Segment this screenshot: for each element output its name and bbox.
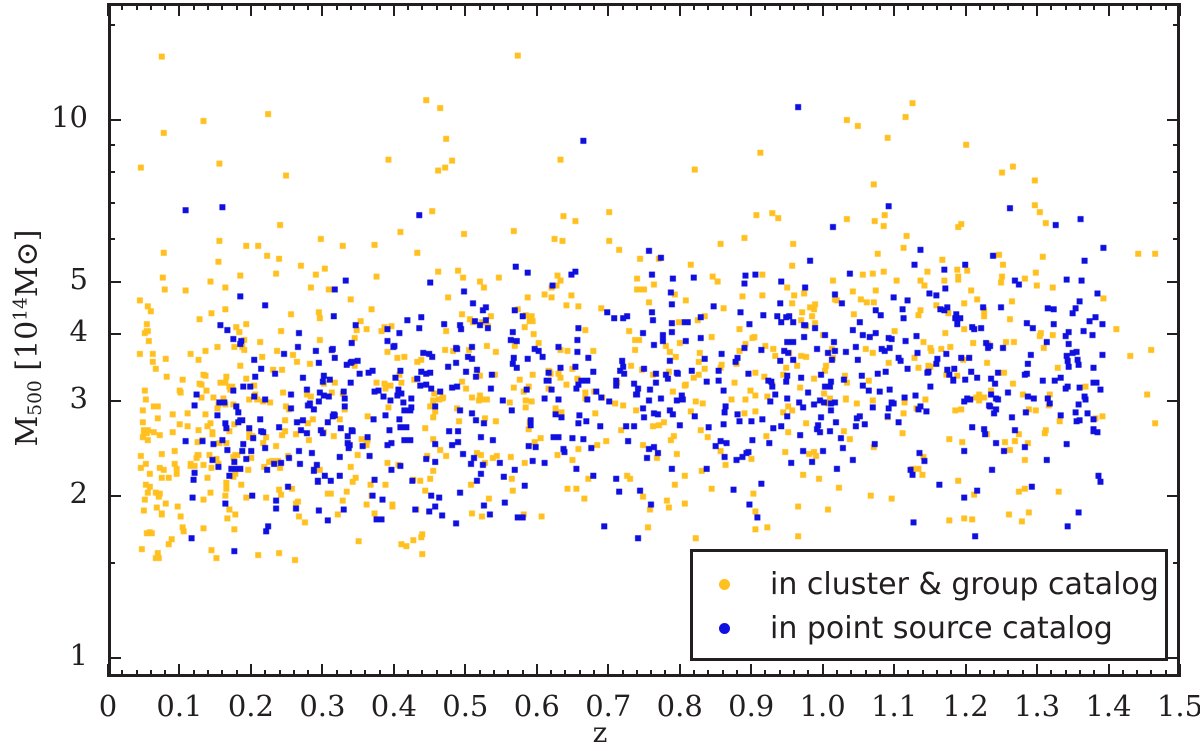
x-tick-minor-top <box>693 3 695 10</box>
x-tick-major-top <box>965 3 967 16</box>
y-axis-title-base: M <box>10 416 45 447</box>
x-tick-minor <box>1007 670 1009 677</box>
y-tick-minor <box>108 202 115 204</box>
y-tick-minor-right <box>1173 238 1180 240</box>
x-tick-minor-top <box>807 3 809 10</box>
y-tick-minor <box>108 238 115 240</box>
x-tick-minor-top <box>450 3 452 10</box>
x-tick-minor <box>236 670 238 677</box>
x-tick-minor <box>436 670 438 677</box>
x-tick-minor-top <box>193 3 195 10</box>
x-tick-minor <box>350 670 352 677</box>
x-tick-minor <box>636 670 638 677</box>
x-tick-minor-top <box>1136 3 1138 10</box>
x-tick-major <box>965 664 967 677</box>
x-tick-minor-top <box>664 3 666 10</box>
x-tick-minor-top <box>1079 3 1081 10</box>
x-tick-minor-top <box>1007 3 1009 10</box>
y-tick-major-right <box>1167 495 1180 497</box>
x-tick-major <box>1108 664 1110 677</box>
x-tick-minor <box>979 670 981 677</box>
x-tick-minor-top <box>379 3 381 10</box>
x-tick-minor <box>879 670 881 677</box>
x-tick-minor <box>1122 670 1124 677</box>
x-tick-minor-top <box>522 3 524 10</box>
x-tick-minor-top <box>579 3 581 10</box>
x-tick-minor-top <box>650 3 652 10</box>
x-tick-minor-top <box>764 3 766 10</box>
x-tick-minor <box>164 670 166 677</box>
x-tick-minor-top <box>793 3 795 10</box>
y-tick-major-right <box>1167 119 1180 121</box>
x-tick-minor-top <box>364 3 366 10</box>
x-tick-minor <box>1050 670 1052 677</box>
legend-swatch-blue <box>719 623 730 634</box>
x-tick-minor <box>293 670 295 677</box>
x-tick-minor <box>836 670 838 677</box>
x-tick-minor-top <box>1165 3 1167 10</box>
x-tick-major <box>321 664 323 677</box>
y-tick-minor-right <box>1173 171 1180 173</box>
x-tick-minor <box>764 670 766 677</box>
scatter-plot-figure: 00.10.20.30.40.50.60.70.80.91.01.11.21.3… <box>0 0 1200 751</box>
x-tick-major-top <box>1179 3 1181 16</box>
x-tick-minor-top <box>236 3 238 10</box>
x-tick-minor-top <box>636 3 638 10</box>
x-tick-minor <box>421 670 423 677</box>
y-axis-title-subscript: 500 <box>25 380 46 416</box>
x-tick-minor-top <box>436 3 438 10</box>
x-tick-minor <box>550 670 552 677</box>
y-tick-minor <box>108 24 115 26</box>
x-tick-major <box>250 664 252 677</box>
x-tick-minor <box>1150 670 1152 677</box>
x-tick-minor-top <box>421 3 423 10</box>
x-tick-major-top <box>679 3 681 16</box>
x-tick-minor-top <box>922 3 924 10</box>
x-tick-minor-top <box>150 3 152 10</box>
x-tick-minor <box>193 670 195 677</box>
x-tick-major <box>750 664 752 677</box>
x-tick-minor <box>793 670 795 677</box>
y-tick-major <box>108 119 121 121</box>
y-tick-major-right <box>1167 400 1180 402</box>
x-tick-minor-top <box>936 3 938 10</box>
x-axis-title: z <box>0 716 1200 749</box>
y-tick-major-right <box>1167 333 1180 335</box>
x-tick-minor <box>136 670 138 677</box>
y-tick-minor <box>108 562 115 564</box>
y-tick-major <box>108 657 121 659</box>
legend-swatch-orange <box>719 579 730 590</box>
x-tick-minor-top <box>550 3 552 10</box>
x-tick-minor <box>379 670 381 677</box>
x-tick-minor <box>707 670 709 677</box>
x-tick-minor <box>1136 670 1138 677</box>
legend-label-cluster-group: in cluster & group catalog <box>770 567 1159 602</box>
x-tick-major-top <box>536 3 538 16</box>
x-tick-minor-top <box>507 3 509 10</box>
x-tick-minor <box>364 670 366 677</box>
legend-label-point-source: in point source catalog <box>770 611 1113 646</box>
y-tick-minor <box>108 171 115 173</box>
x-tick-major-top <box>822 3 824 16</box>
x-tick-minor <box>279 670 281 677</box>
x-tick-minor <box>493 670 495 677</box>
x-tick-minor-top <box>879 3 881 10</box>
x-tick-major-top <box>464 3 466 16</box>
x-tick-major <box>607 664 609 677</box>
x-tick-major <box>1179 664 1181 677</box>
y-tick-major <box>108 281 121 283</box>
x-tick-minor-top <box>1093 3 1095 10</box>
x-tick-minor-top <box>564 3 566 10</box>
x-tick-major <box>679 664 681 677</box>
x-tick-minor <box>522 670 524 677</box>
x-tick-major <box>536 664 538 677</box>
x-tick-minor <box>622 670 624 677</box>
x-tick-minor <box>950 670 952 677</box>
x-tick-minor <box>722 670 724 677</box>
x-tick-minor <box>650 670 652 677</box>
x-tick-minor <box>1022 670 1024 677</box>
x-tick-minor-top <box>479 3 481 10</box>
x-tick-major <box>393 664 395 677</box>
x-tick-minor <box>807 670 809 677</box>
x-tick-minor <box>407 670 409 677</box>
x-tick-major <box>464 664 466 677</box>
x-tick-minor-top <box>221 3 223 10</box>
x-tick-minor-top <box>593 3 595 10</box>
x-tick-major-top <box>607 3 609 16</box>
x-tick-minor-top <box>264 3 266 10</box>
x-tick-minor <box>150 670 152 677</box>
x-tick-minor-top <box>279 3 281 10</box>
y-tick-major-right <box>1167 281 1180 283</box>
x-tick-minor <box>121 670 123 677</box>
x-tick-major <box>1036 664 1038 677</box>
x-tick-minor-top <box>722 3 724 10</box>
x-tick-minor <box>1079 670 1081 677</box>
x-tick-major <box>178 664 180 677</box>
x-tick-major-top <box>750 3 752 16</box>
x-tick-minor <box>736 670 738 677</box>
x-tick-minor <box>593 670 595 677</box>
x-tick-minor-top <box>336 3 338 10</box>
x-tick-minor-top <box>350 3 352 10</box>
x-tick-minor-top <box>907 3 909 10</box>
x-tick-major-top <box>1036 3 1038 16</box>
x-tick-major <box>893 664 895 677</box>
x-tick-minor <box>693 670 695 677</box>
x-tick-major <box>107 664 109 677</box>
x-tick-minor <box>579 670 581 677</box>
x-tick-minor-top <box>1022 3 1024 10</box>
x-tick-minor <box>907 670 909 677</box>
x-tick-minor-top <box>950 3 952 10</box>
y-tick-major <box>108 495 121 497</box>
x-tick-minor-top <box>207 3 209 10</box>
x-tick-major-top <box>250 3 252 16</box>
x-tick-minor <box>936 670 938 677</box>
x-tick-minor <box>507 670 509 677</box>
y-tick-label: 1 <box>0 638 88 672</box>
x-tick-minor-top <box>121 3 123 10</box>
legend-item-cluster-group: in cluster & group catalog <box>693 562 1165 606</box>
y-axis-title-exponent: 14 <box>11 297 32 321</box>
x-tick-major-top <box>893 3 895 16</box>
x-tick-major-top <box>178 3 180 16</box>
legend-item-point-source: in point source catalog <box>693 606 1165 650</box>
x-tick-minor-top <box>622 3 624 10</box>
y-tick-minor-right <box>1173 144 1180 146</box>
x-tick-minor-top <box>164 3 166 10</box>
x-tick-minor-top <box>1065 3 1067 10</box>
y-tick-minor-right <box>1173 24 1180 26</box>
x-tick-major-top <box>1108 3 1110 16</box>
y-tick-minor-right <box>1173 202 1180 204</box>
y-tick-major <box>108 400 121 402</box>
x-tick-minor-top <box>850 3 852 10</box>
y-tick-minor <box>108 144 115 146</box>
x-tick-minor <box>1165 670 1167 677</box>
x-tick-minor <box>307 670 309 677</box>
y-tick-major <box>108 333 121 335</box>
x-tick-minor-top <box>993 3 995 10</box>
x-tick-minor-top <box>136 3 138 10</box>
x-tick-minor-top <box>865 3 867 10</box>
x-tick-major-top <box>321 3 323 16</box>
x-tick-minor-top <box>293 3 295 10</box>
y-axis-title: M500 [1014M⊙] <box>10 58 46 618</box>
x-tick-minor <box>221 670 223 677</box>
y-axis-title-unit-open: [10 <box>10 321 45 380</box>
x-tick-minor-top <box>707 3 709 10</box>
x-tick-minor <box>993 670 995 677</box>
x-tick-minor-top <box>407 3 409 10</box>
x-tick-minor-top <box>979 3 981 10</box>
x-tick-minor-top <box>1150 3 1152 10</box>
x-tick-major <box>822 664 824 677</box>
x-tick-minor-top <box>307 3 309 10</box>
x-tick-minor <box>779 670 781 677</box>
x-tick-minor <box>1065 670 1067 677</box>
x-tick-minor <box>207 670 209 677</box>
x-tick-minor <box>450 670 452 677</box>
x-tick-minor <box>922 670 924 677</box>
x-tick-minor-top <box>736 3 738 10</box>
x-tick-minor <box>865 670 867 677</box>
x-tick-minor <box>850 670 852 677</box>
x-tick-minor <box>264 670 266 677</box>
y-axis-title-unit-close: M⊙] <box>10 230 45 298</box>
x-tick-minor-top <box>779 3 781 10</box>
x-tick-minor-top <box>1122 3 1124 10</box>
x-tick-minor <box>336 670 338 677</box>
legend-box: in cluster & group catalog in point sour… <box>690 549 1168 661</box>
x-tick-major-top <box>393 3 395 16</box>
y-tick-major-right <box>1167 657 1180 659</box>
y-tick-minor-right <box>1173 562 1180 564</box>
x-tick-minor <box>564 670 566 677</box>
x-tick-minor <box>664 670 666 677</box>
x-tick-minor-top <box>1050 3 1052 10</box>
x-tick-minor-top <box>493 3 495 10</box>
x-tick-minor-top <box>836 3 838 10</box>
x-tick-minor <box>479 670 481 677</box>
x-tick-major-top <box>107 3 109 16</box>
x-tick-minor <box>1093 670 1095 677</box>
